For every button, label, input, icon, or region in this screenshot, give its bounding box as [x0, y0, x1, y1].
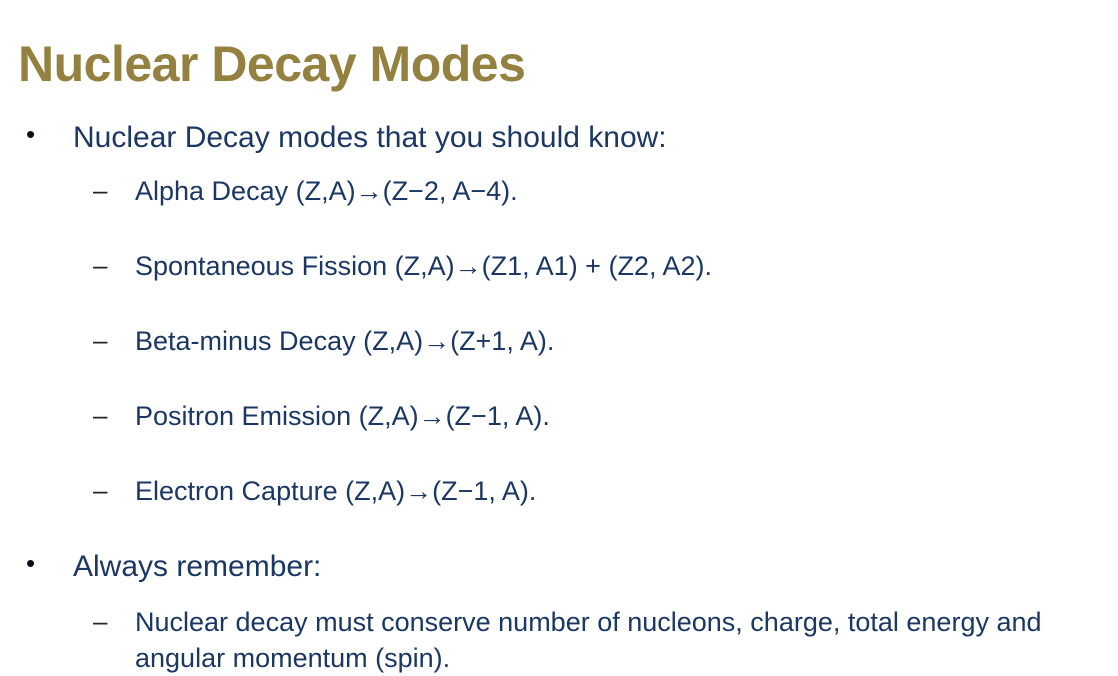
bullet-level2-label: Alpha Decay (Z,A)→(Z−2, A−4).	[135, 174, 1118, 209]
spacer	[0, 586, 1118, 605]
spacer	[0, 209, 1118, 249]
dash-icon: –	[93, 174, 135, 208]
spacer	[0, 284, 1118, 324]
slide-canvas: Nuclear Decay Modes • Nuclear Decay mode…	[0, 0, 1118, 663]
bullet-dot-icon: •	[26, 547, 73, 581]
dash-icon: –	[93, 324, 135, 358]
slide-body: • Nuclear Decay modes that you should kn…	[0, 118, 1118, 676]
bullet-level2-label: Positron Emission (Z,A)→(Z−1, A).	[135, 399, 1118, 434]
page-title: Nuclear Decay Modes	[18, 36, 525, 92]
spacer	[0, 509, 1118, 547]
spacer	[0, 359, 1118, 399]
bullet-level2-label: Spontaneous Fission (Z,A)→(Z1, A1) + (Z2…	[135, 249, 1118, 284]
spacer	[0, 157, 1118, 174]
bullet-dot-icon: •	[26, 118, 73, 152]
bullet-level2-label: Beta-minus Decay (Z,A)→(Z+1, A).	[135, 324, 1118, 359]
bullet-level1-label: Nuclear Decay modes that you should know…	[73, 118, 1118, 157]
bullet-level1-label: Always remember:	[73, 547, 1118, 586]
bullet-level2-label: Nuclear decay must conserve number of nu…	[135, 605, 1118, 675]
bullet-level1-decay-modes: • Nuclear Decay modes that you should kn…	[0, 118, 1118, 157]
bullet-level2-conservation-rule: – Nuclear decay must conserve number of …	[0, 605, 1118, 675]
bullet-level2-electron-capture: – Electron Capture (Z,A)→(Z−1, A).	[0, 474, 1118, 509]
dash-icon: –	[93, 249, 135, 283]
bullet-level2-spontaneous-fission: – Spontaneous Fission (Z,A)→(Z1, A1) + (…	[0, 249, 1118, 284]
spacer	[0, 434, 1118, 474]
bullet-level1-always-remember: • Always remember:	[0, 547, 1118, 586]
bullet-level2-positron-emission: – Positron Emission (Z,A)→(Z−1, A).	[0, 399, 1118, 434]
dash-icon: –	[93, 474, 135, 508]
bullet-level2-label: Electron Capture (Z,A)→(Z−1, A).	[135, 474, 1118, 509]
bullet-level2-beta-minus-decay: – Beta-minus Decay (Z,A)→(Z+1, A).	[0, 324, 1118, 359]
dash-icon: –	[93, 399, 135, 433]
dash-icon: –	[93, 605, 135, 639]
bullet-level2-alpha-decay: – Alpha Decay (Z,A)→(Z−2, A−4).	[0, 174, 1118, 209]
